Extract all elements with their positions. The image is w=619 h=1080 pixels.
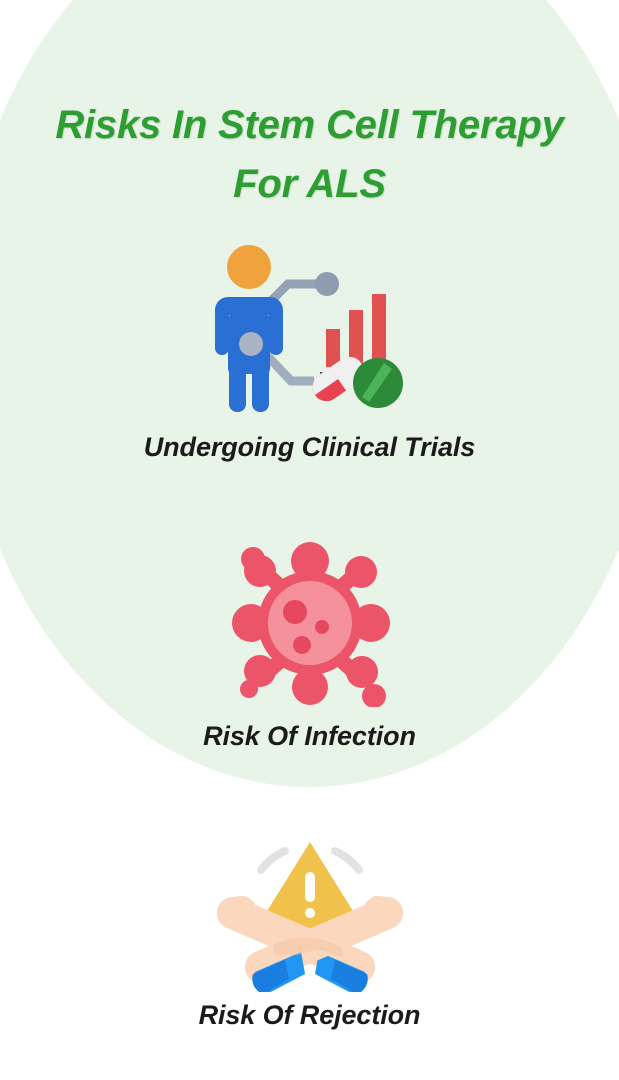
infographic-page: Risks In Stem Cell Therapy For ALS bbox=[0, 0, 619, 1080]
virus-icon bbox=[222, 539, 398, 707]
page-title: Risks In Stem Cell Therapy For ALS bbox=[30, 96, 590, 214]
risk-item-caption: Risk Of Infection bbox=[203, 721, 416, 752]
risk-item-infection: Risk Of Infection bbox=[0, 539, 619, 752]
risk-item-caption: Undergoing Clinical Trials bbox=[144, 432, 475, 463]
risk-item-rejection: Risk Of Rejection bbox=[0, 824, 619, 1031]
page-title-line-2: For ALS bbox=[30, 155, 590, 214]
clinical-trials-icon bbox=[210, 242, 410, 422]
page-title-line-1: Risks In Stem Cell Therapy bbox=[30, 96, 590, 155]
content-stack: Risks In Stem Cell Therapy For ALS bbox=[0, 0, 619, 1080]
risk-item-caption: Risk Of Rejection bbox=[199, 1000, 421, 1031]
crossed-hands-warning-icon bbox=[215, 824, 405, 992]
risk-item-clinical-trials: Undergoing Clinical Trials bbox=[0, 242, 619, 463]
